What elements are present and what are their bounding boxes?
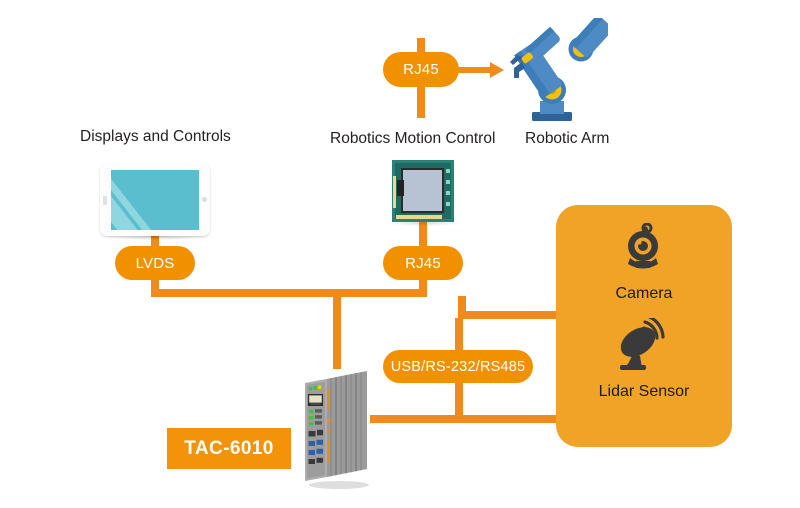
tablet-side-button	[103, 196, 107, 205]
tablet-display	[100, 164, 210, 236]
connector-rj45-top-stub-down	[417, 84, 425, 118]
pill-lvds[interactable]: LVDS	[115, 246, 195, 280]
pill-rj45-mid[interactable]: RJ45	[383, 246, 463, 280]
connector-serial-stub-up	[455, 318, 463, 352]
robotic-arm-icon	[492, 18, 608, 126]
model-badge[interactable]: TAC-6010	[167, 428, 291, 469]
caption-robotic-arm: Robotic Arm	[525, 130, 609, 148]
cpu-chip	[392, 160, 454, 222]
camera-icon	[556, 223, 732, 273]
connector-right-upper-horizontal	[458, 311, 562, 319]
lidar-icon	[556, 318, 732, 374]
camera-label: Camera	[556, 285, 732, 303]
connector-bus-to-pc	[333, 289, 341, 369]
pill-rj45-top[interactable]: RJ45	[383, 52, 459, 87]
caption-robotics-motion-control: Robotics Motion Control	[330, 130, 495, 148]
tablet-screen	[111, 170, 199, 230]
lidar-label: Lidar Sensor	[556, 383, 732, 401]
sensor-card: Camera Lidar Sensor	[556, 205, 732, 447]
pill-serial[interactable]: USB/RS-232/RS485	[383, 350, 533, 383]
diagram-canvas: Camera Lidar Sensor RJ45 LVDS RJ45 USB/R…	[0, 0, 800, 508]
connector-bottom-horizontal	[370, 415, 562, 423]
industrial-pc-icon	[297, 365, 375, 490]
connector-main-bus-horizontal	[151, 289, 427, 297]
caption-displays-and-controls: Displays and Controls	[80, 128, 231, 146]
tablet-home-button	[202, 197, 207, 202]
